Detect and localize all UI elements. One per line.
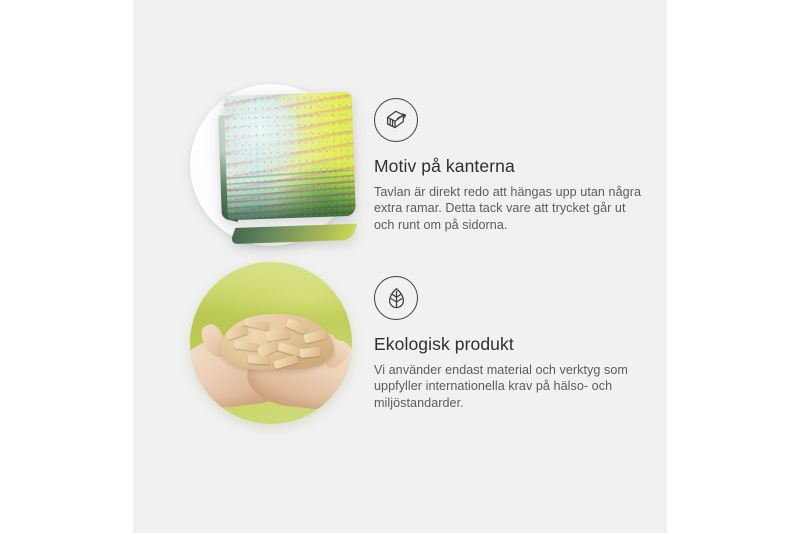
feature-row-edge-print: Motiv på kanterna Tavlan är direkt redo …: [190, 84, 652, 246]
wood-chips-in-hands-photo: [190, 262, 352, 424]
artwork-drip-texture: [226, 170, 356, 220]
feature-content-edge-print: Motiv på kanterna Tavlan är direkt redo …: [352, 84, 652, 233]
feature-title: Ekologisk produkt: [374, 334, 652, 355]
green-background-circle: [190, 262, 352, 424]
product-features-panel: Motiv på kanterna Tavlan är direkt redo …: [133, 0, 667, 533]
wood-chips-pile: [220, 314, 334, 370]
canvas-edge-print-icon: [374, 98, 418, 142]
feature-body: Tavlan är direkt redo att hängas upp uta…: [374, 184, 642, 233]
feature-body: Vi använder endast material och verktyg …: [374, 362, 646, 411]
feature-row-eco-product: Ekologisk produkt Vi använder endast mat…: [190, 262, 652, 424]
canvas-print-object: [224, 92, 357, 236]
canvas-artwork-face: [224, 92, 356, 220]
feature-content-eco-product: Ekologisk produkt Vi använder endast mat…: [352, 262, 652, 411]
canvas-bottom-edge: [230, 224, 358, 244]
background-blur-top: [190, 262, 352, 311]
canvas-print-photo: [190, 84, 352, 246]
leaf-icon: [374, 276, 418, 320]
page-root: Motiv på kanterna Tavlan är direkt redo …: [0, 0, 800, 533]
feature-title: Motiv på kanterna: [374, 156, 652, 177]
